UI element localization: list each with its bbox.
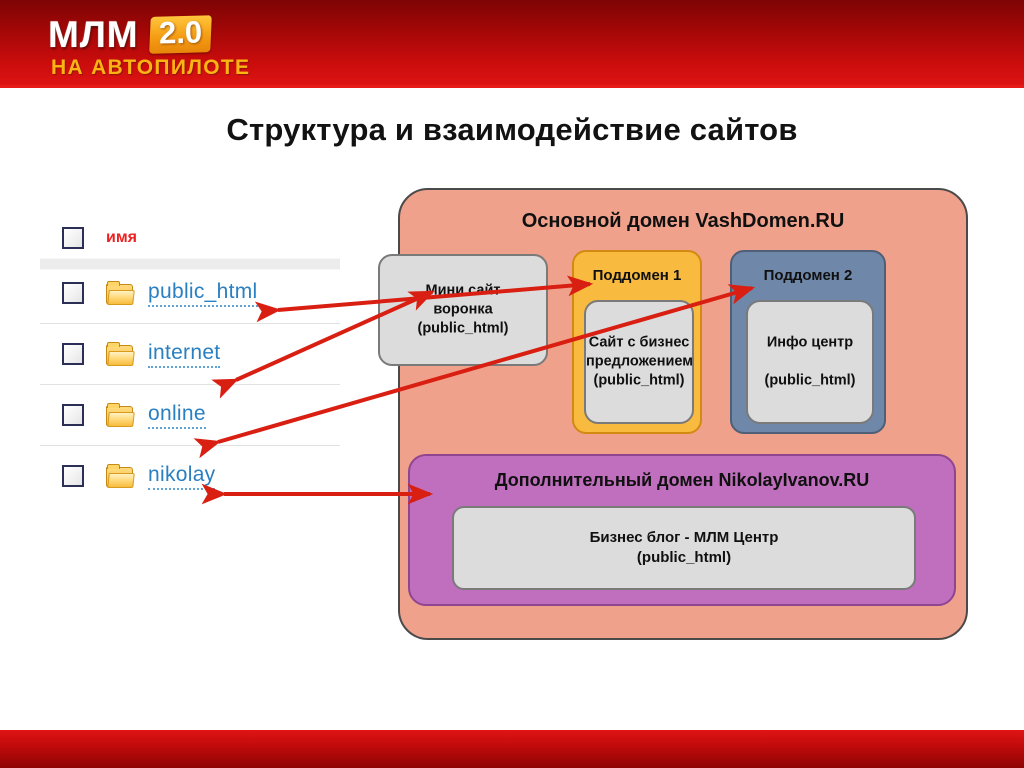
list-item[interactable]: internet (40, 331, 340, 377)
extra-domain-inner-line2: (public_html) (637, 549, 731, 566)
list-item[interactable]: public_html (40, 270, 340, 316)
extra-domain-title: Дополнительный домен NikolayIvanov.RU (410, 470, 954, 491)
subdomain-row: Мини сайт воронка (public_html) Поддомен… (400, 254, 966, 434)
header-divider (40, 258, 340, 270)
subdomain1-inner-line3: (public_html) (593, 373, 684, 389)
logo-top-row: МЛМ 2.0 (48, 12, 318, 56)
main-domain-title: Основной домен VashDomen.RU (400, 210, 966, 233)
extra-domain-inner-label: Бизнес блог - МЛМ Центр (public_html) (454, 528, 914, 569)
mini-site-line3: (public_html) (417, 321, 508, 337)
extra-domain-inner-line1: Бизнес блог - МЛМ Центр (590, 529, 779, 546)
subdomain1-inner-box: Сайт с бизнес предложением (public_html) (584, 300, 694, 424)
row-checkbox[interactable] (62, 343, 84, 365)
folder-icon (106, 344, 132, 364)
mini-site-label: Мини сайт воронка (public_html) (380, 281, 546, 338)
subdomain1-box: Поддомен 1 Сайт с бизнес предложением (p… (572, 250, 702, 434)
mini-site-line2: воронка (433, 301, 492, 317)
mini-site-line1: Мини сайт (425, 282, 500, 298)
logo-version-badge: 2.0 (149, 15, 212, 53)
folder-link-nikolay[interactable]: nikolay (148, 463, 215, 490)
subdomain1-inner-line2: предложением (586, 353, 693, 369)
mini-site-box: Мини сайт воронка (public_html) (378, 254, 548, 366)
list-item[interactable]: online (40, 392, 340, 438)
extra-domain-inner-box: Бизнес блог - МЛМ Центр (public_html) (452, 506, 916, 590)
row-checkbox[interactable] (62, 282, 84, 304)
list-item[interactable]: nikolay (40, 453, 340, 499)
row-checkbox[interactable] (62, 465, 84, 487)
subdomain2-inner-line2: (public_html) (764, 373, 855, 389)
folder-icon (106, 466, 132, 486)
row-divider (40, 445, 340, 446)
folder-icon (106, 405, 132, 425)
folder-link-internet[interactable]: internet (148, 341, 220, 368)
subdomain1-inner-line1: Сайт с бизнес (589, 334, 690, 350)
subdomain2-box: Поддомен 2 Инфо центр (public_html) (730, 250, 886, 434)
logo-badge-text: 2.0 (158, 16, 202, 50)
row-divider (40, 323, 340, 324)
subdomain2-inner-line1: Инфо центр (767, 334, 853, 350)
extra-domain-box: Дополнительный домен NikolayIvanov.RU Би… (408, 454, 956, 606)
logo: МЛМ 2.0 НА АВТОПИЛОТЕ (48, 12, 318, 80)
logo-main-text: МЛМ (48, 16, 139, 53)
file-list-header-row: имя (40, 218, 340, 258)
folder-link-public-html[interactable]: public_html (148, 280, 258, 307)
row-checkbox[interactable] (62, 404, 84, 426)
subdomain2-inner-label: Инфо центр (public_html) (748, 333, 872, 390)
folder-link-online[interactable]: online (148, 402, 206, 429)
subdomain1-title: Поддомен 1 (574, 266, 700, 286)
file-manager-list: имя public_html internet online nikolay (40, 218, 340, 499)
logo-subtitle: НА АВТОПИЛОТЕ (51, 57, 318, 78)
bottom-brand-bar (0, 730, 1024, 768)
main-domain-container: Основной домен VashDomen.RU Мини сайт во… (398, 188, 968, 640)
folder-icon (106, 283, 132, 303)
select-all-checkbox[interactable] (62, 227, 84, 249)
subdomain2-inner-box: Инфо центр (public_html) (746, 300, 874, 424)
row-divider (40, 384, 340, 385)
page-title: Структура и взаимодействие сайтов (0, 112, 1024, 148)
subdomain1-inner-label: Сайт с бизнес предложением (public_html) (586, 333, 692, 390)
top-brand-bar: МЛМ 2.0 НА АВТОПИЛОТЕ (0, 0, 1024, 88)
subdomain2-title: Поддомен 2 (732, 266, 884, 286)
column-header-name: имя (106, 229, 137, 247)
